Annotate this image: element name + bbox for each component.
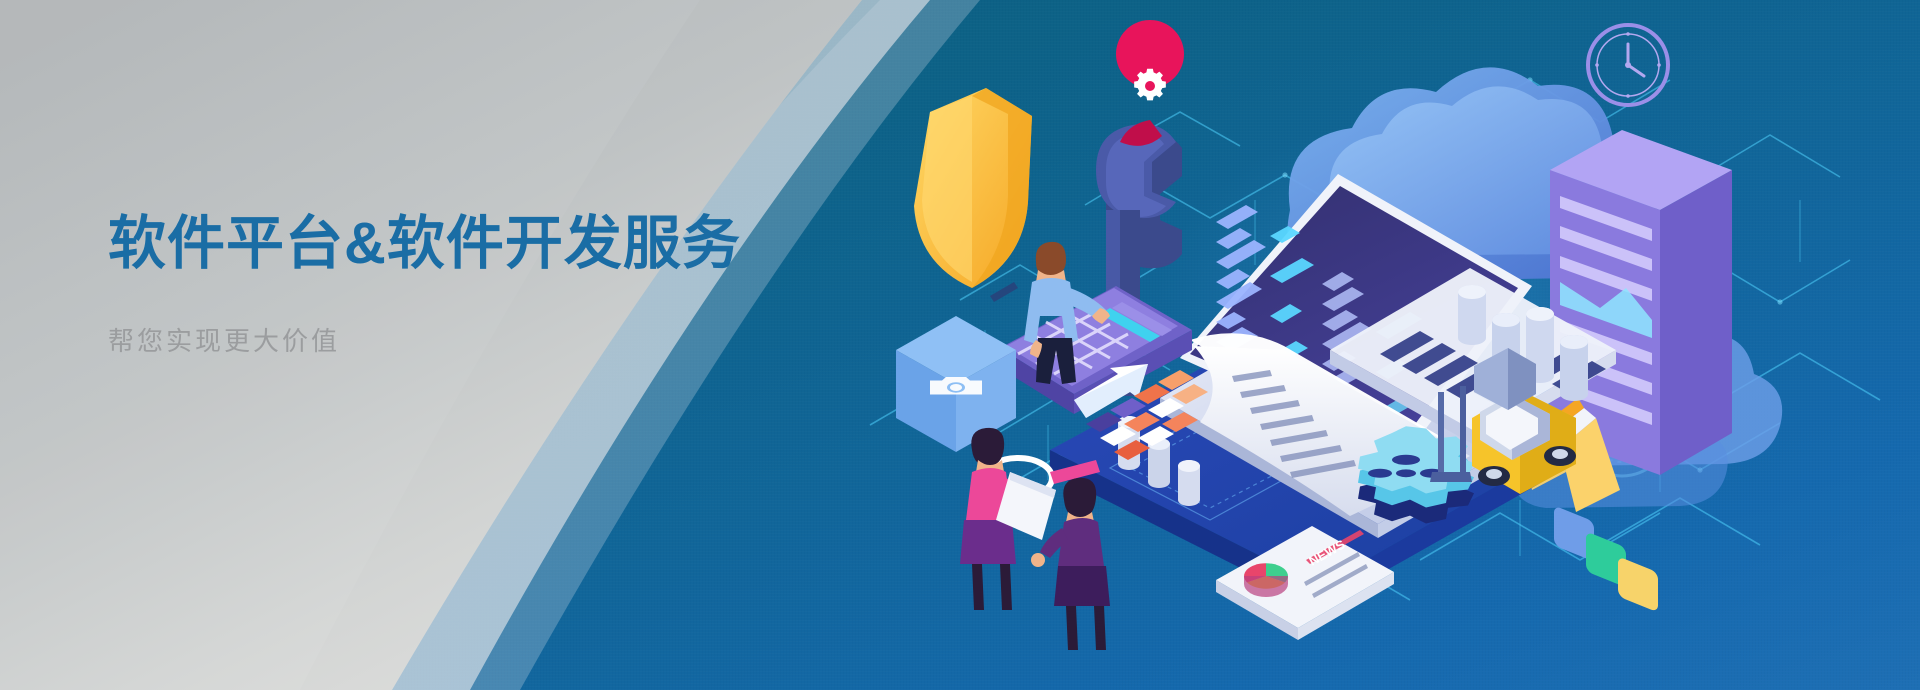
hero-banner: NEWS xyxy=(0,0,1920,690)
panel-card-yellow xyxy=(1618,556,1658,612)
page-title: 软件平台&软件开发服务 xyxy=(108,212,828,277)
page-subtitle: 帮您实现更大价值 xyxy=(108,321,828,358)
pie-chart-icon xyxy=(1244,563,1288,597)
bar-1 xyxy=(1458,285,1486,345)
hero-text-block: 软件平台&软件开发服务 帮您实现更大价值 xyxy=(108,212,828,358)
bar-4 xyxy=(1560,335,1588,401)
clock-icon xyxy=(1588,25,1668,105)
